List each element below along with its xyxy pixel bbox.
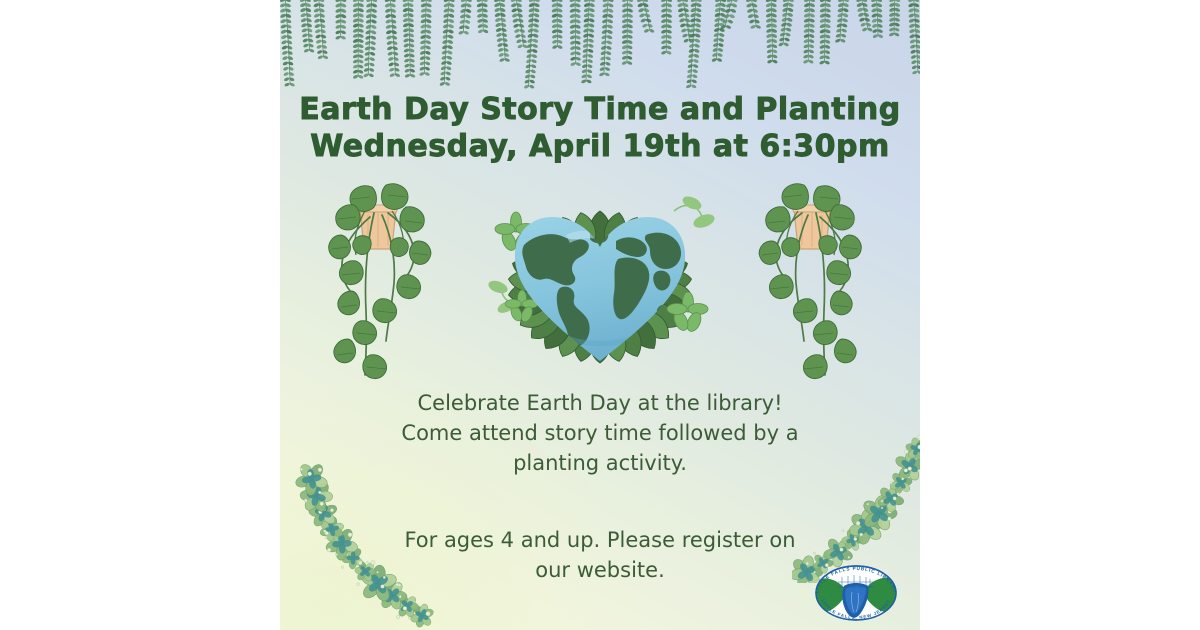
body-paragraph-1: Celebrate Earth Day at the library! Come… [280,388,920,479]
body-p1-line-2: Come attend story time followed by a [280,418,920,448]
hanging-pothos-plant-right [742,183,882,383]
earth-heart-globe-graphic [476,183,724,379]
event-poster: Earth Day Story Time and Planting Wednes… [280,0,920,630]
title-line-2: Wednesday, April 19th at 6:30pm [280,129,920,166]
hanging-vine-border [280,0,920,96]
poster-title: Earth Day Story Time and Planting Wednes… [280,92,920,165]
poster-artwork-row [280,185,920,380]
title-line-1: Earth Day Story Time and Planting [280,92,920,129]
body-p1-line-1: Celebrate Earth Day at the library! [280,388,920,418]
poster-canvas: Earth Day Story Time and Planting Wednes… [0,0,1200,630]
letterbox-left [0,0,280,630]
hanging-pothos-plant-left [308,183,448,383]
letterbox-right [920,0,1200,630]
body-p2-line-1: For ages 4 and up. Please register on [280,525,920,555]
poster-body-text: Celebrate Earth Day at the library! Come… [280,388,920,585]
body-p1-line-3: planting activity. [280,448,920,478]
library-logo: LITTLE FALLS PUBLIC LIBRARY LITTLE FALLS… [808,562,904,624]
